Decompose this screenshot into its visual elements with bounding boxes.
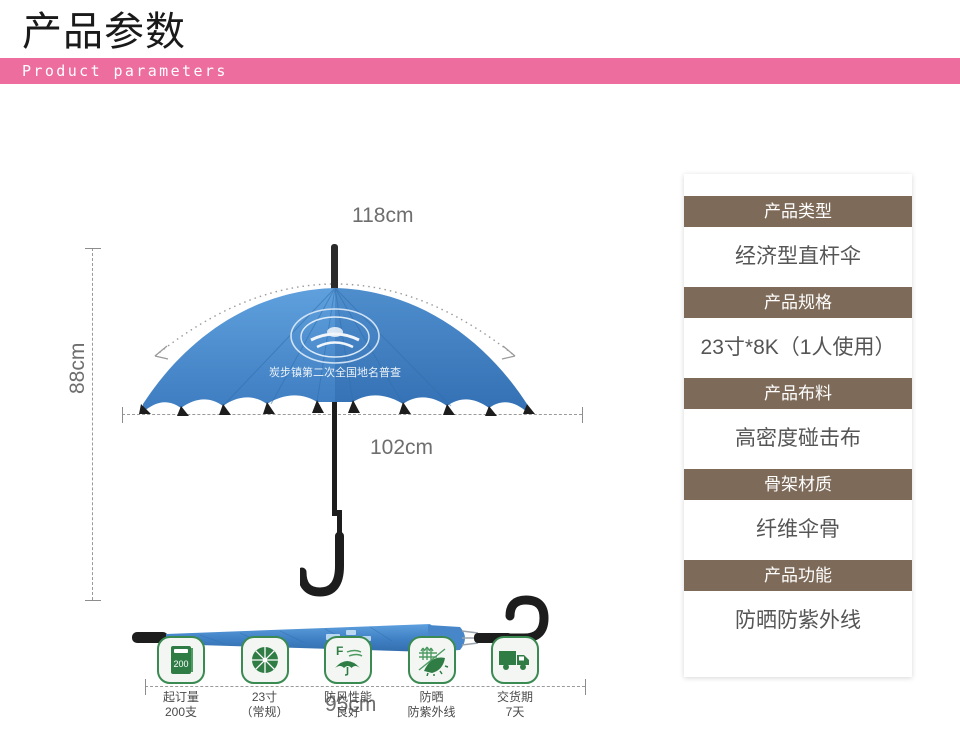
uv-protection-icon [408,636,456,684]
delivery-truck-icon [491,636,539,684]
feature-label-windproof: 防风性能 良好 [315,690,381,720]
spec-row: 产品类型 经济型直杆伞 [684,196,912,287]
spec-label-frame-material: 骨架材质 [684,469,912,500]
feature-item-windproof: F 防风性能 良好 [315,636,381,720]
page-subtitle: Product parameters [22,59,228,83]
umbrella-top-view-icon [241,636,289,684]
spec-row: 骨架材质 纤维伞骨 [684,469,912,560]
feature-item-min-order: 200 起订量 200支 [148,636,214,720]
spec-label-specification: 产品规格 [684,287,912,318]
spec-label-product-type: 产品类型 [684,196,912,227]
min-order-badge-text: 200 [173,659,188,669]
spec-table: 产品类型 经济型直杆伞 产品规格 23寸*8K（1人使用） 产品布料 高密度碰击… [684,174,912,677]
canopy-print-text: 炭步镇第二次全国地名普查 [269,365,401,379]
height-guide-line [92,248,93,600]
measurement-height-label: 88cm [66,343,90,394]
feature-label-min-order: 起订量 200支 [148,690,214,720]
folded-guide-tick-right [585,679,586,695]
spec-value-function: 防晒防紫外线 [684,591,912,651]
feature-strip: 200 起订量 200支 23寸 （常规） F [148,636,548,720]
span-guide-tick-right [582,407,583,423]
umbrella-crook-handle [302,536,340,592]
feature-label-size: 23寸 （常规） [232,690,298,720]
arc-arrow-left [155,346,168,359]
spec-value-product-type: 经济型直杆伞 [684,227,912,287]
umbrella-shaft-upper [332,402,337,516]
spec-value-specification: 23寸*8K（1人使用） [684,318,912,378]
open-umbrella-illustration: 炭步镇第二次全国地名普查 [95,216,575,516]
height-guide-tick-bottom [85,600,101,601]
canopy-left-half [143,288,335,412]
feature-label-delivery: 交货期 7天 [482,690,548,720]
feature-label-uv-protection: 防晒 防紫外线 [399,690,465,720]
canopy-right-half [335,288,527,412]
spec-row: 产品规格 23寸*8K（1人使用） [684,287,912,378]
feature-item-delivery: 交货期 7天 [482,636,548,720]
windproof-umbrella-icon: F [324,636,372,684]
windproof-badge-text: F [336,644,343,658]
umbrella-handle-illustration [300,510,420,602]
page-header: 产品参数 Product parameters [0,0,960,88]
closed-umbrella-crook-handle [502,600,544,638]
feature-item-size: 23寸 （常规） [232,636,298,720]
page-title: 产品参数 [22,6,186,58]
spec-label-fabric: 产品布料 [684,378,912,409]
min-order-box-icon: 200 [157,636,205,684]
spec-label-function: 产品功能 [684,560,912,591]
spec-value-frame-material: 纤维伞骨 [684,500,912,560]
spec-row: 产品布料 高密度碰击布 [684,378,912,469]
feature-item-uv-protection: 防晒 防紫外线 [399,636,465,720]
spec-value-fabric: 高密度碰击布 [684,409,912,469]
arc-arrow-right [502,346,515,359]
product-visual-panel: 118cm 102cm 95cm 88cm [0,96,660,656]
spec-row: 产品功能 防晒防紫外线 [684,560,912,651]
